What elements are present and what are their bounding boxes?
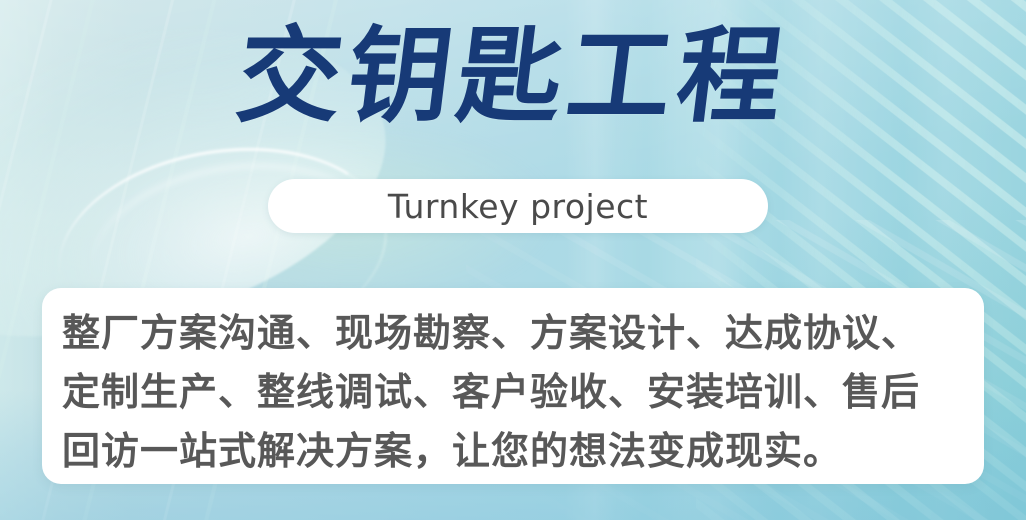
description-line-2: 定制生产、整线调试、客户验收、安装培训、售后 xyxy=(62,364,964,423)
turnkey-project-banner: 交钥匙工程 Turnkey project 整厂方案沟通、现场勘察、方案设计、达… xyxy=(0,0,1026,520)
subtitle-pill: Turnkey project xyxy=(268,179,768,233)
description-card: 整厂方案沟通、现场勘察、方案设计、达成协议、 定制生产、整线调试、客户验收、安装… xyxy=(42,288,984,484)
description-line-1: 整厂方案沟通、现场勘察、方案设计、达成协议、 xyxy=(62,305,964,364)
banner-headline: 交钥匙工程 xyxy=(0,18,1026,136)
subtitle-text: Turnkey project xyxy=(388,187,648,226)
banner-content: 交钥匙工程 Turnkey project 整厂方案沟通、现场勘察、方案设计、达… xyxy=(0,0,1026,520)
description-line-3: 回访一站式解决方案，让您的想法变成现实。 xyxy=(62,423,964,482)
description-text: 整厂方案沟通、现场勘察、方案设计、达成协议、 定制生产、整线调试、客户验收、安装… xyxy=(62,305,964,482)
